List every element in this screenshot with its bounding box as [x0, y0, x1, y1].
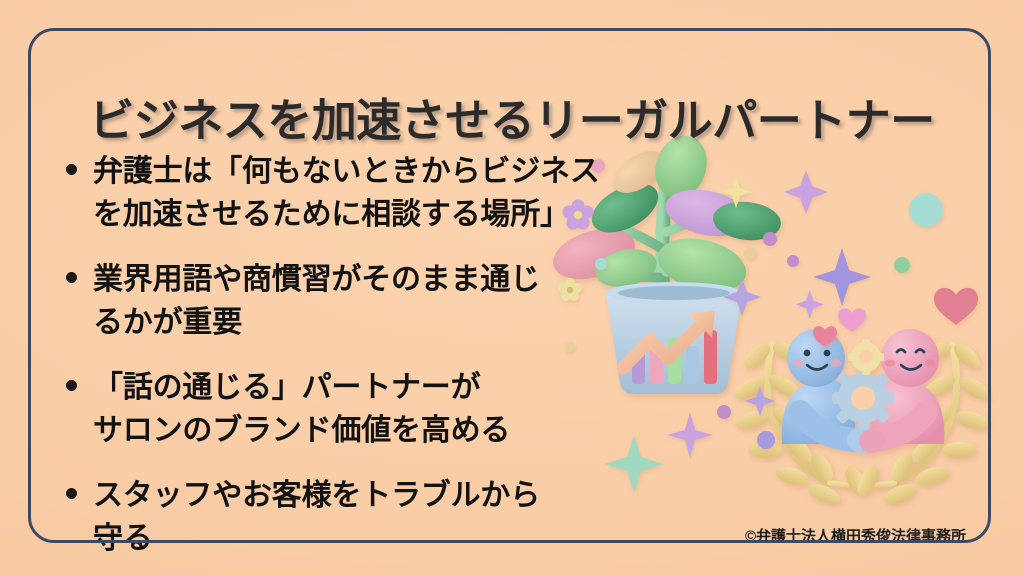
bullet-text: 弁護士は「何もないときからビジネス を加速させるために相談する場所」 [93, 150, 600, 236]
gear-icon [832, 367, 894, 429]
sparkle-decorations [605, 170, 871, 493]
bullet-dot-icon [66, 488, 77, 499]
slide-canvas: ビジネスを加速させるリーガルパートナー 弁護士は「何もないときからビジネス を加… [0, 0, 1024, 576]
list-item: 業界用語や商慣習がそのまま通じ るかが重要 [66, 258, 626, 344]
small-gear-icon [848, 339, 884, 375]
page-title: ビジネスを加速させるリーガルパートナー [0, 84, 1024, 149]
bullet-list: 弁護士は「何もないときからビジネス を加速させるために相談する場所」 業界用語や… [66, 150, 626, 560]
copyright-notice: ©弁護士法人横田秀俊法律事務所 [745, 525, 966, 546]
bullet-dot-icon [66, 164, 77, 175]
bullet-text: 「話の通じる」パートナーが サロンのブランド価値を高める [93, 366, 510, 452]
list-item: 弁護士は「何もないときからビジネス を加速させるために相談する場所」 [66, 150, 626, 236]
list-item: 「話の通じる」パートナーが サロンのブランド価値を高める [66, 366, 626, 452]
heart-decorations [813, 288, 978, 347]
bullet-text: 業界用語や商慣習がそのまま通じ るかが重要 [93, 258, 540, 344]
bullet-dot-icon [66, 272, 77, 283]
list-item: スタッフやお客様をトラブルから 守る [66, 474, 626, 560]
partnership-handshake-illustration [731, 329, 992, 508]
bullet-text: スタッフやお客様をトラブルから 守る [93, 474, 540, 560]
bullet-dot-icon [66, 380, 77, 391]
